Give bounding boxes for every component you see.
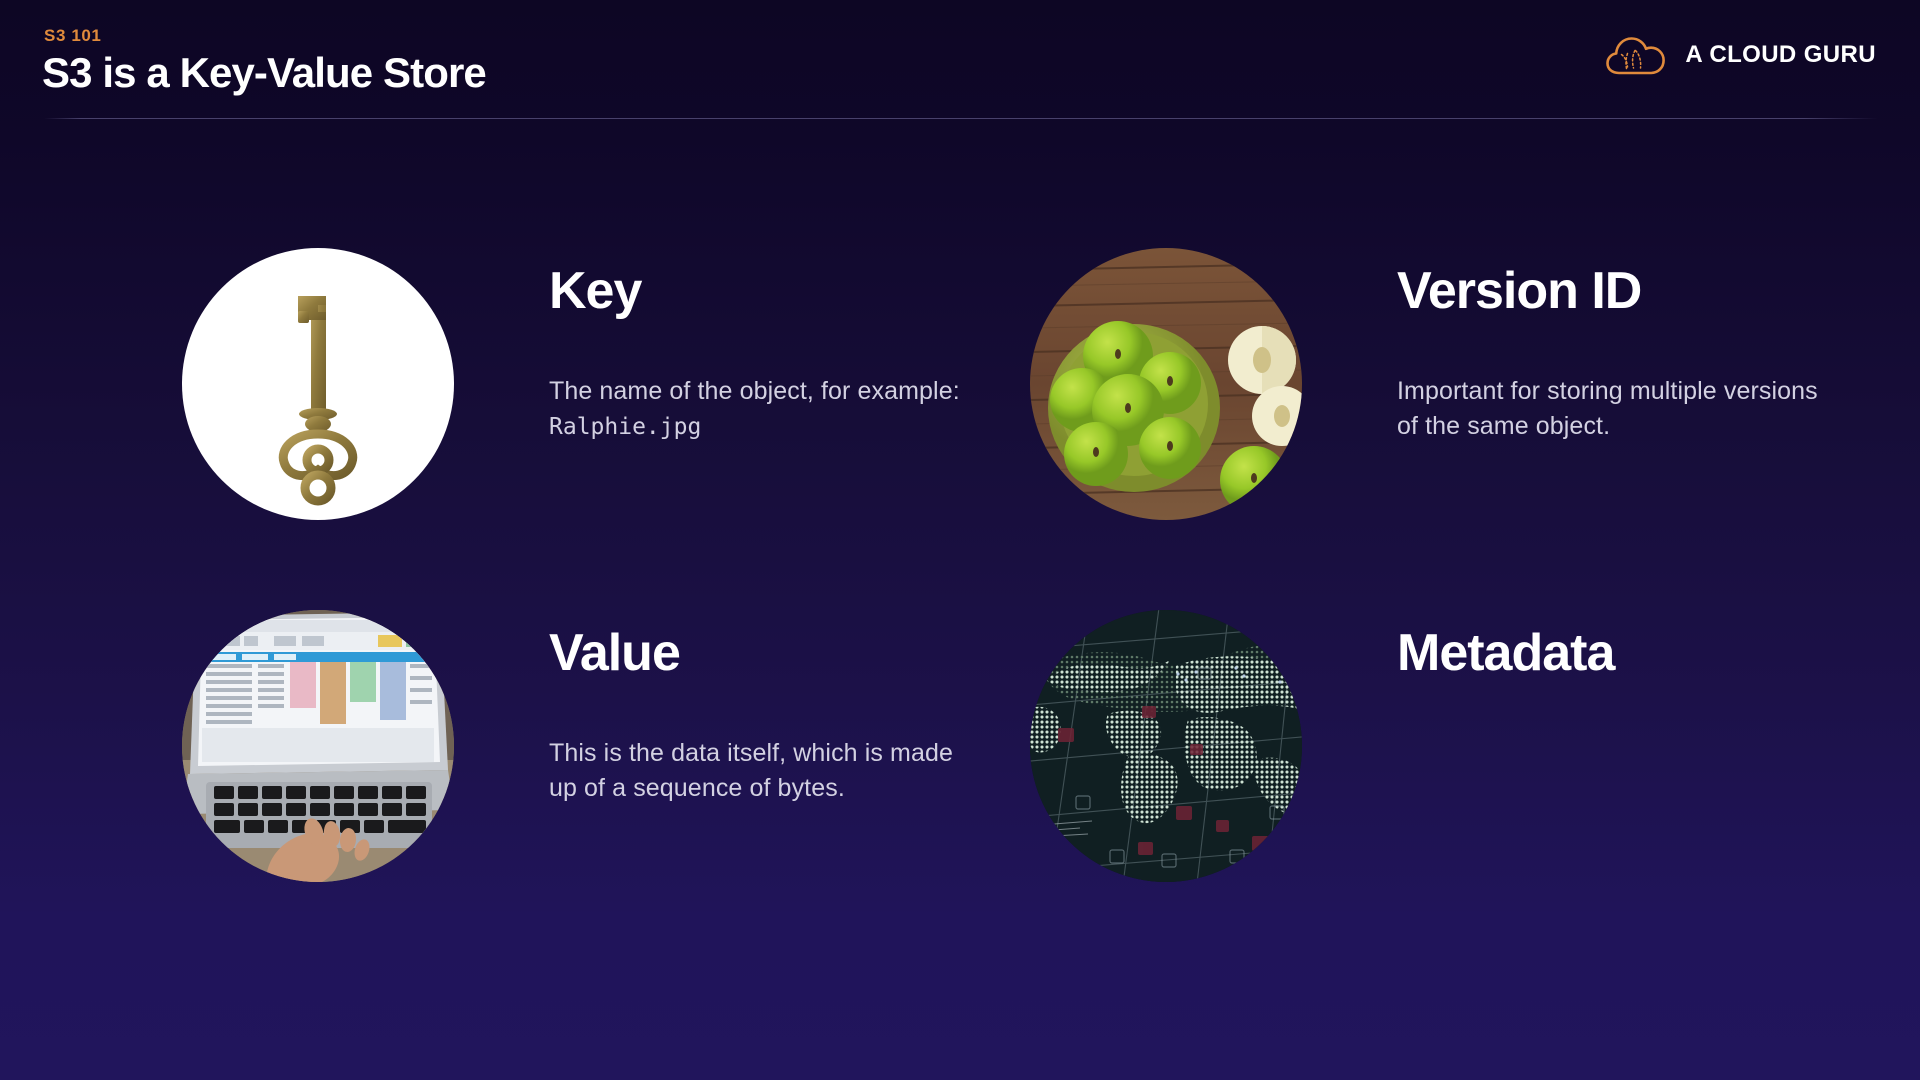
laptop-spreadsheet-photo	[182, 610, 454, 882]
feature-heading: Metadata	[1397, 627, 1827, 679]
green-apples-bowl-photo	[1030, 248, 1302, 520]
feature-item-key: Key The name of the object, for example:…	[182, 248, 979, 520]
feature-body: This is the data itself, which is made u…	[549, 679, 979, 805]
feature-copy: Version ID Important for storing multipl…	[1397, 248, 1827, 443]
feature-body: The name of the object, for example: Ral…	[549, 317, 979, 443]
feature-heading: Value	[549, 627, 979, 679]
slide: S3 101 S3 is a Key-Value Store A CLOUD G…	[0, 0, 1920, 1080]
feature-copy: Key The name of the object, for example:…	[549, 248, 979, 443]
antique-brass-key-photo	[182, 248, 454, 520]
feature-heading: Key	[549, 265, 979, 317]
feature-body-text: The name of the object, for example:	[549, 377, 960, 405]
feature-item-version-id: Version ID Important for storing multipl…	[1030, 248, 1827, 520]
object-key-example: Ralphie.jpg	[549, 414, 701, 440]
digital-world-map-photo	[1030, 610, 1302, 882]
feature-item-metadata: Metadata	[1030, 610, 1827, 882]
feature-body: Important for storing multiple versions …	[1397, 317, 1827, 443]
feature-heading: Version ID	[1397, 265, 1827, 317]
feature-copy: Value This is the data itself, which is …	[549, 610, 979, 805]
feature-item-value: Value This is the data itself, which is …	[182, 610, 979, 882]
feature-copy: Metadata	[1397, 610, 1827, 679]
feature-grid: Key The name of the object, for example:…	[0, 0, 1920, 1080]
